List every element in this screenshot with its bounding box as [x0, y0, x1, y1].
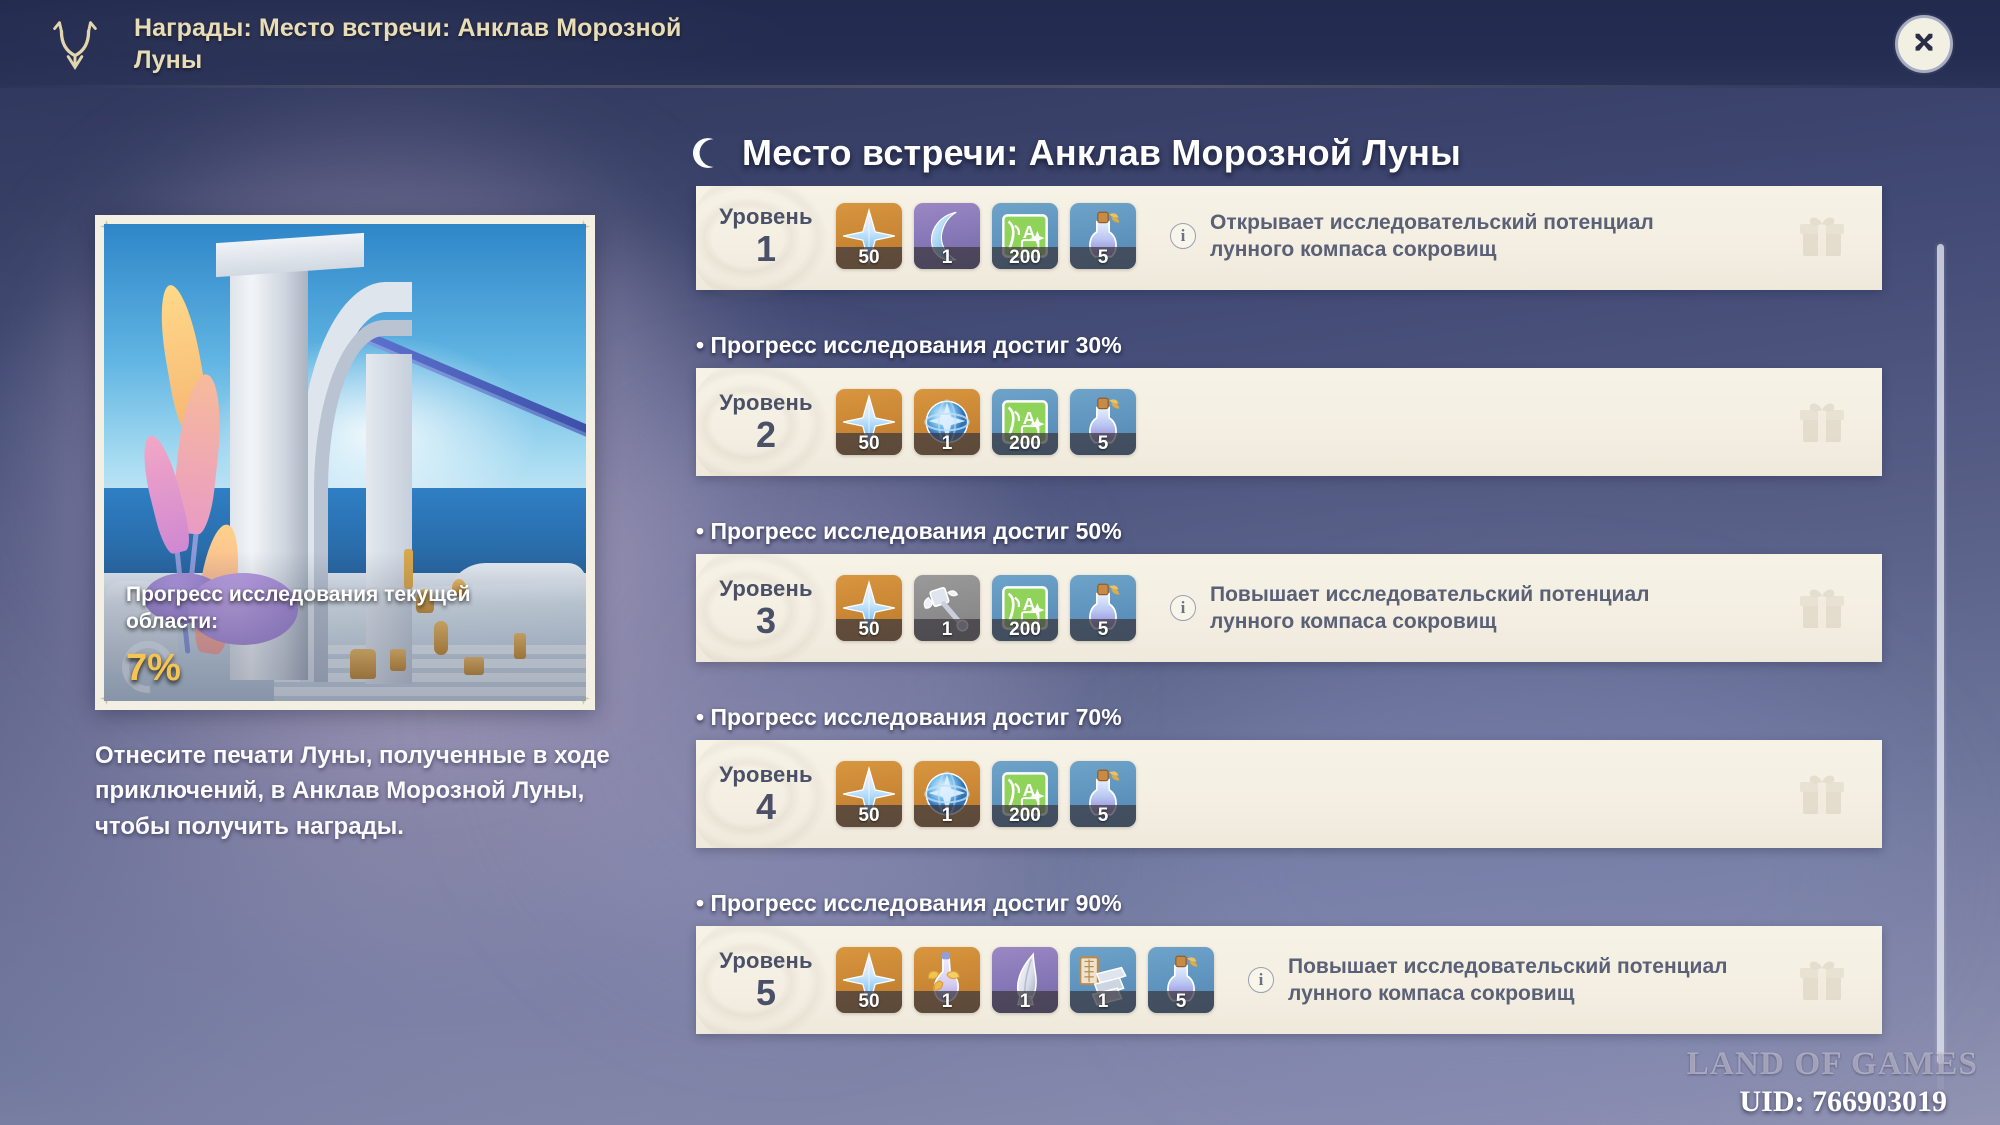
item-quantity: 1 — [914, 433, 980, 455]
area-preview-image: Прогресс исследования текущей области: 7… — [104, 224, 586, 701]
hero-wit-potion-item[interactable]: 5 — [1070, 761, 1136, 827]
reward-row[interactable]: Уровень1501A2005iОткрывает исследователь… — [696, 186, 1882, 290]
reward-description: Открывает исследовательский потенциал лу… — [1210, 209, 1680, 264]
top-bar: Награды: Место встречи: Анклав Морозной … — [0, 0, 2000, 88]
gift-icon[interactable] — [1798, 399, 1846, 445]
primogem-item[interactable]: 50 — [836, 947, 902, 1013]
hero-wit-potion-item[interactable]: 5 — [1070, 575, 1136, 641]
hero-wit-potion-item[interactable]: 5 — [1070, 203, 1136, 269]
hero-wit-potion-item[interactable]: 5 — [1148, 947, 1214, 1013]
reward-row[interactable]: Уровень3501A2005iПовышает исследовательс… — [696, 554, 1882, 662]
milestone-label: • Прогресс исследования достиг 30% — [660, 330, 1920, 368]
level-indicator: Уровень2 — [696, 391, 836, 454]
reward-description-block: iПовышает исследовательский потенциал лу… — [1136, 581, 1882, 636]
preview-frame: Прогресс исследования текущей области: 7… — [95, 215, 595, 710]
area-preview-panel: Прогресс исследования текущей области: 7… — [95, 215, 595, 844]
primogem-item[interactable]: 50 — [836, 389, 902, 455]
item-quantity: 1 — [914, 805, 980, 827]
item-quantity: 1 — [992, 991, 1058, 1013]
golden-gourd-item[interactable]: 1 — [914, 947, 980, 1013]
level-word: Уровень — [696, 763, 836, 787]
item-quantity: 200 — [992, 247, 1058, 269]
item-quantity: 200 — [992, 619, 1058, 641]
level-number: 5 — [696, 974, 836, 1012]
reward-item-list: 501A2005 — [836, 575, 1136, 641]
reward-item-list: 501115 — [836, 947, 1214, 1013]
moon-seal-item[interactable]: 1 — [914, 203, 980, 269]
adventure-exp-item[interactable]: A200 — [992, 761, 1058, 827]
level-word: Уровень — [696, 577, 836, 601]
level-indicator: Уровень3 — [696, 577, 836, 640]
level-word: Уровень — [696, 391, 836, 415]
reward-row[interactable]: Уровень5501115iПовышает исследовательски… — [696, 926, 1882, 1034]
item-quantity: 5 — [1070, 433, 1136, 455]
adventure-exp-item[interactable]: A200 — [992, 203, 1058, 269]
uid-label: UID: 766903019 — [1740, 1085, 1948, 1119]
level-word: Уровень — [696, 949, 836, 973]
antler-crest-icon — [44, 13, 106, 75]
level-number: 2 — [696, 416, 836, 454]
adventure-exp-item[interactable]: A200 — [992, 389, 1058, 455]
section-title-row: Место встречи: Анклав Морозной Луны — [690, 132, 1461, 174]
reward-list-scrollbar[interactable] — [1937, 244, 1944, 1090]
info-icon[interactable]: i — [1170, 595, 1196, 621]
item-quantity: 50 — [836, 805, 902, 827]
reward-description-block: iПовышает исследовательский потенциал лу… — [1214, 953, 1882, 1008]
watermark: LAND OF GAMES — [1687, 1046, 1978, 1083]
item-quantity: 50 — [836, 991, 902, 1013]
area-description: Отнесите печати Луны, полученные в ходе … — [95, 738, 615, 844]
level-word: Уровень — [696, 205, 836, 229]
reward-description: Повышает исследовательский потенциал лун… — [1288, 953, 1758, 1008]
preview-progress-label: Прогресс исследования текущей области: — [126, 582, 526, 635]
item-quantity: 1 — [914, 619, 980, 641]
reward-item-list: 501A2005 — [836, 203, 1136, 269]
frost-orb-item[interactable]: 1 — [914, 761, 980, 827]
item-quantity: 50 — [836, 433, 902, 455]
item-quantity: 1 — [914, 991, 980, 1013]
adventure-exp-item[interactable]: A200 — [992, 575, 1058, 641]
milestone-label: • Прогресс исследования достиг 70% — [660, 702, 1920, 740]
item-quantity: 5 — [1070, 619, 1136, 641]
item-quantity: 1 — [1070, 991, 1136, 1013]
feather-ornament-item[interactable]: 1 — [992, 947, 1058, 1013]
key-item[interactable]: 1 — [914, 575, 980, 641]
reward-list[interactable]: • Прогресс исследования достиг 10%Уровен… — [660, 186, 1920, 1086]
reward-item-list: 501A2005 — [836, 761, 1136, 827]
reward-row[interactable]: Уровень2501A2005 — [696, 368, 1882, 476]
crescent-moon-icon — [690, 136, 724, 170]
info-icon[interactable]: i — [1248, 967, 1274, 993]
reward-row[interactable]: Уровень4501A2005 — [696, 740, 1882, 848]
close-icon — [1909, 29, 1939, 59]
close-button[interactable] — [1895, 15, 1953, 73]
scrollbar-thumb[interactable] — [1937, 244, 1944, 1064]
page-title: Награды: Место встречи: Анклав Морозной … — [134, 12, 694, 76]
reward-description-block: iОткрывает исследовательский потенциал л… — [1136, 209, 1882, 264]
level-indicator: Уровень4 — [696, 763, 836, 826]
preview-progress-percent: 7% — [126, 649, 181, 687]
item-quantity: 200 — [992, 433, 1058, 455]
level-number: 1 — [696, 230, 836, 268]
level-number: 4 — [696, 788, 836, 826]
primogem-item[interactable]: 50 — [836, 575, 902, 641]
item-quantity: 5 — [1070, 247, 1136, 269]
furnishing-item[interactable]: 1 — [1070, 947, 1136, 1013]
level-indicator: Уровень5 — [696, 949, 836, 1012]
frost-orb-item[interactable]: 1 — [914, 389, 980, 455]
section-title: Место встречи: Анклав Морозной Луны — [742, 132, 1461, 174]
item-quantity: 5 — [1148, 991, 1214, 1013]
item-quantity: 50 — [836, 247, 902, 269]
level-indicator: Уровень1 — [696, 205, 836, 268]
primogem-item[interactable]: 50 — [836, 203, 902, 269]
primogem-item[interactable]: 50 — [836, 761, 902, 827]
hero-wit-potion-item[interactable]: 5 — [1070, 389, 1136, 455]
item-quantity: 5 — [1070, 805, 1136, 827]
gift-icon[interactable] — [1798, 771, 1846, 817]
reward-item-list: 501A2005 — [836, 389, 1136, 455]
item-quantity: 200 — [992, 805, 1058, 827]
info-icon[interactable]: i — [1170, 223, 1196, 249]
item-quantity: 50 — [836, 619, 902, 641]
milestone-label: • Прогресс исследования достиг 90% — [660, 888, 1920, 926]
milestone-label: • Прогресс исследования достиг 50% — [660, 516, 1920, 554]
reward-description: Повышает исследовательский потенциал лун… — [1210, 581, 1680, 636]
item-quantity: 1 — [914, 247, 980, 269]
level-number: 3 — [696, 602, 836, 640]
